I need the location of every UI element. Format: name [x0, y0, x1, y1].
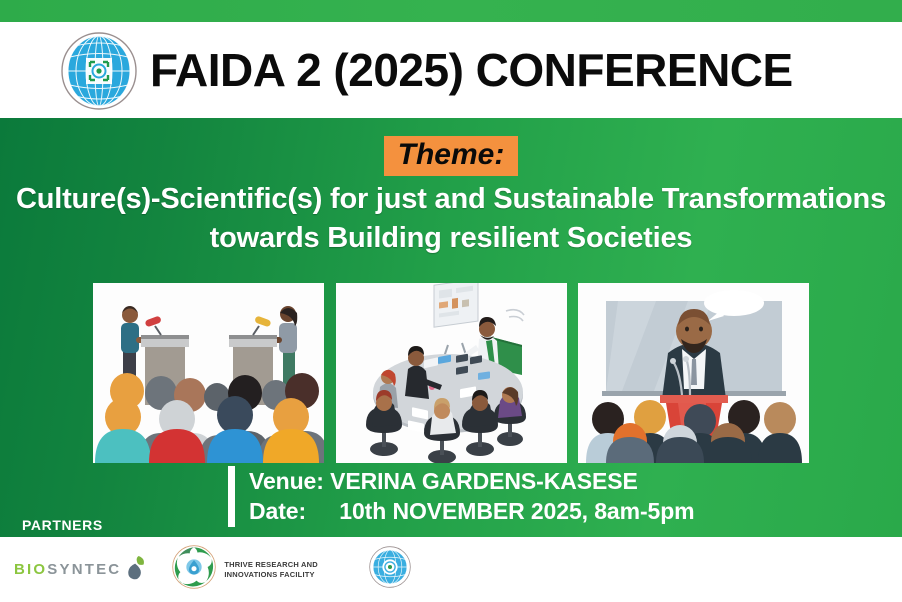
biosyntec-logo: BIOSYNTEC	[14, 554, 147, 585]
conference-poster: FAIDA 2 (2025) CONFERENCE Theme: Culture…	[0, 0, 902, 602]
venue-label: Venue:	[249, 466, 324, 496]
leaf-droplet-icon	[125, 554, 147, 585]
venue-accent-bar	[228, 466, 235, 527]
date-value: 10th NOVEMBER 2025, 8am-5pm	[339, 498, 694, 524]
thrive-logo: THRIVE RESEARCH AND INNOVATIONS FACILITY	[171, 544, 318, 595]
thrive-line-2: INNOVATIONS FACILITY	[224, 570, 314, 579]
partners-footer: BIOSYNTEC	[0, 537, 902, 602]
panel-keynote-speaker	[578, 283, 809, 463]
biosyntec-text-bio: BIO	[14, 561, 47, 578]
theme-label: Theme:	[384, 136, 519, 176]
partner-logo-list: BIOSYNTEC	[14, 537, 412, 602]
poster-header: FAIDA 2 (2025) CONFERENCE	[0, 22, 902, 118]
poster-body: Theme: Culture(s)-Scientific(s) for just…	[0, 118, 902, 537]
faida-globe-logo	[368, 545, 412, 594]
venue-value: VERINA GARDENS-KASESE	[330, 468, 638, 494]
date-row: Date: 10th NOVEMBER 2025, 8am-5pm	[249, 496, 695, 526]
venue-row: Venue: VERINA GARDENS-KASESE	[249, 466, 695, 496]
theme-label-container: Theme:	[0, 136, 902, 176]
green-swirl-circle-icon	[171, 544, 217, 595]
theme-text: Culture(s)-Scientific(s) for just and Su…	[12, 180, 890, 258]
blue-globe-logo-icon	[57, 31, 141, 111]
illustration-panels	[93, 283, 809, 463]
theme-line-1: Culture(s)-Scientific(s) for just and Su…	[12, 180, 890, 219]
biosyntec-text-syntec: SYNTEC	[47, 561, 121, 578]
thrive-line-1: THRIVE RESEARCH AND	[224, 560, 318, 569]
panel-two-speakers-podium	[93, 283, 324, 463]
page-title: FAIDA 2 (2025) CONFERENCE	[150, 43, 793, 97]
partners-label: PARTNERS	[22, 517, 103, 533]
panel-boardroom-meeting	[336, 283, 567, 463]
theme-line-2: towards Building resilient Societies	[12, 219, 890, 258]
venue-date-block: Venue: VERINA GARDENS-KASESE Date: 10th …	[228, 466, 695, 527]
thrive-logo-text: THRIVE RESEARCH AND INNOVATIONS FACILITY	[224, 560, 318, 580]
date-label: Date:	[249, 496, 333, 526]
top-green-strip	[0, 0, 902, 22]
